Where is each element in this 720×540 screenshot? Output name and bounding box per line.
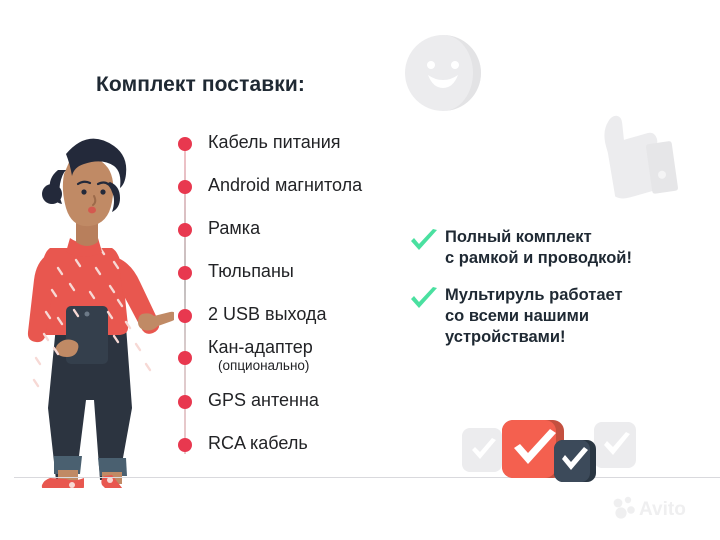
list-item-label: Рамка	[208, 217, 260, 239]
feature-text: Полный комплект с рамкой и проводкой!	[445, 227, 709, 269]
bullet-dot	[178, 309, 192, 323]
list-item-label: Android магнитола	[208, 174, 362, 196]
avito-wordmark: Avito	[639, 499, 686, 520]
list-item-label: GPS антенна	[208, 389, 319, 411]
checkbox-group-icon	[458, 402, 638, 492]
list-item-sublabel: (опционально)	[218, 358, 309, 374]
list-item-label: Кабель питания	[208, 131, 341, 153]
smiley-face-icon	[404, 34, 482, 112]
list-item-label: 2 USB выхода	[208, 303, 326, 325]
promo-image: Комплект поставки: Кабель питания Androi…	[0, 0, 720, 540]
thumbs-up-icon	[572, 108, 680, 208]
list-item-label: Тюльпаны	[208, 260, 294, 282]
bullet-dot	[178, 395, 192, 409]
list-item-label: RCA кабель	[208, 432, 308, 454]
bullet-dot	[178, 223, 192, 237]
page-title: Комплект поставки:	[96, 73, 305, 97]
bullet-dot	[178, 180, 192, 194]
feature-text: Мультируль работает со всеми нашими устр…	[445, 285, 709, 348]
contents-list: Кабель питания Android магнитола Рамка Т…	[150, 130, 400, 460]
list-item-label: Кан-адаптер	[208, 336, 313, 358]
feature-item: Полный комплект с рамкой и проводкой!	[409, 227, 709, 269]
avito-watermark: Avito	[612, 495, 708, 521]
feature-item: Мультируль работает со всеми нашими устр…	[409, 285, 709, 348]
bullet-dot	[178, 438, 192, 452]
bullet-dot	[178, 137, 192, 151]
check-mark-icon	[409, 229, 439, 255]
check-mark-icon	[409, 287, 439, 313]
feature-list: Полный комплект с рамкой и проводкой! Му…	[409, 227, 709, 364]
bullet-dot	[178, 351, 192, 365]
bullet-dot	[178, 266, 192, 280]
